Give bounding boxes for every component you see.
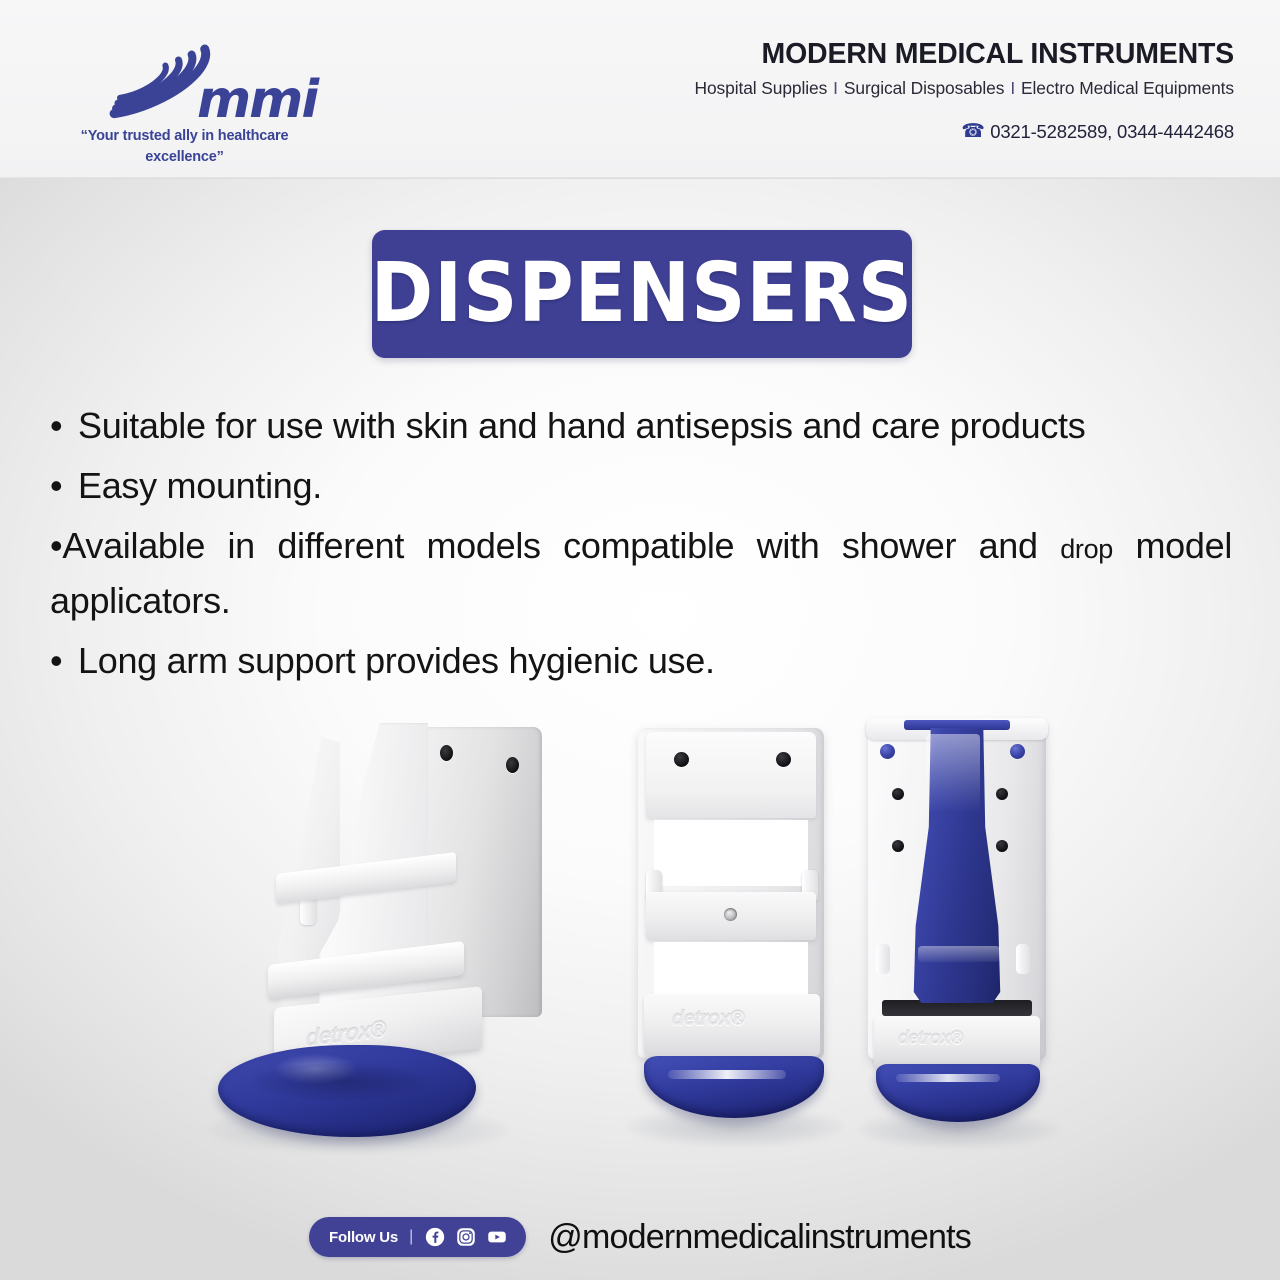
feature-text: Suitable for use with skin and hand anti… bbox=[78, 405, 1085, 446]
screw-icon bbox=[724, 908, 737, 921]
page-title-banner: DISPENSERS bbox=[372, 230, 912, 358]
social-handle: @modernmedicalinstruments bbox=[548, 1218, 971, 1257]
phone-numbers: 0321-5282589, 0344-4442468 bbox=[990, 121, 1234, 143]
header-company-info: MODERN MEDICAL INSTRUMENTS Hospital Supp… bbox=[695, 38, 1235, 143]
bullet-glyph: • bbox=[50, 633, 78, 688]
company-services: Hospital SuppliesISurgical DisposablesIE… bbox=[695, 78, 1235, 99]
tray-highlight bbox=[252, 1063, 432, 1101]
page-title: DISPENSERS bbox=[371, 253, 913, 335]
list-item: •Long arm support provides hygienic use. bbox=[50, 633, 1232, 688]
service-separator-2: I bbox=[1004, 78, 1021, 98]
company-name: MODERN MEDICAL INSTRUMENTS bbox=[695, 38, 1235, 71]
logo-tagline: “Your trusted ally in healthcare excelle… bbox=[42, 126, 327, 167]
service-2: Surgical Disposables bbox=[844, 78, 1004, 98]
follow-us-pill[interactable]: Follow Us | bbox=[309, 1217, 526, 1257]
product-brand-emboss: detrox® bbox=[898, 1028, 963, 1049]
product-brand-emboss: detrox® bbox=[672, 1008, 744, 1031]
bottle-clip bbox=[876, 944, 890, 974]
service-separator-1: I bbox=[827, 78, 844, 98]
tray-highlight bbox=[896, 1074, 1000, 1082]
feature-text: Easy mounting. bbox=[78, 465, 322, 506]
page-header: mmi “Your trusted ally in healthcare exc… bbox=[0, 0, 1280, 178]
tray-highlight bbox=[668, 1070, 786, 1079]
page-footer: Follow Us | bbox=[0, 1194, 1280, 1280]
flyer-page: mmi “Your trusted ally in healthcare exc… bbox=[0, 0, 1280, 1280]
mounting-hole-icon bbox=[996, 840, 1008, 852]
feature-text: Long arm support provides hygienic use. bbox=[78, 640, 715, 681]
mounting-hole-icon bbox=[996, 788, 1008, 800]
list-item: •Suitable for use with skin and hand ant… bbox=[50, 398, 1232, 453]
service-3: Electro Medical Equipments bbox=[1021, 78, 1234, 98]
mounting-hole-icon bbox=[440, 745, 453, 761]
follow-us-label: Follow Us bbox=[329, 1229, 398, 1246]
mounting-hole-icon bbox=[892, 788, 904, 800]
instagram-icon[interactable] bbox=[455, 1226, 477, 1248]
product-image-group: detrox® detrox® bbox=[0, 690, 1280, 1160]
mounting-hole-icon bbox=[892, 840, 904, 852]
logo-wordmark: mmi bbox=[197, 74, 317, 126]
list-item: •Available in different models compatibl… bbox=[50, 518, 1232, 628]
feature-text-tail: drop bbox=[1060, 534, 1113, 564]
brand-logo: mmi “Your trusted ally in healthcare exc… bbox=[42, 30, 342, 165]
service-1: Hospital Supplies bbox=[695, 78, 828, 98]
bullet-glyph: • bbox=[50, 398, 78, 453]
mounting-hole-icon bbox=[776, 752, 791, 767]
bullet-glyph: • bbox=[50, 458, 78, 513]
dispenser-top-plate bbox=[646, 732, 816, 818]
mounting-hole-icon bbox=[506, 757, 519, 773]
facebook-icon[interactable] bbox=[424, 1226, 446, 1248]
bottle-clip bbox=[1016, 944, 1030, 974]
list-item: •Easy mounting. bbox=[50, 458, 1232, 513]
pill-separator: | bbox=[409, 1228, 413, 1246]
product-image-dispenser-front: detrox® bbox=[620, 720, 850, 1135]
dispenser-cutout bbox=[654, 820, 808, 886]
blue-cap-icon bbox=[880, 744, 895, 759]
dispenser-blue-arm-tray bbox=[644, 1056, 824, 1118]
blue-cap-icon bbox=[1010, 744, 1025, 759]
contact-phone: ☎ 0321-5282589, 0344-4442468 bbox=[695, 121, 1235, 143]
dispenser-cutout bbox=[654, 942, 808, 994]
arm-highlight bbox=[926, 734, 980, 812]
product-image-dispenser-angled: detrox® bbox=[218, 715, 598, 1135]
telephone-icon: ☎ bbox=[961, 123, 982, 141]
header-divider bbox=[0, 177, 1280, 179]
bullet-glyph: • bbox=[50, 525, 62, 566]
dispenser-blue-tray bbox=[876, 1064, 1040, 1122]
feature-text: Available in different models compatible… bbox=[62, 525, 1037, 566]
feature-list: •Suitable for use with skin and hand ant… bbox=[50, 398, 1232, 693]
mounting-hole-icon bbox=[674, 752, 689, 767]
product-image-dispenser-long-arm: detrox® bbox=[852, 708, 1067, 1138]
youtube-icon[interactable] bbox=[486, 1226, 508, 1248]
arm-highlight bbox=[918, 946, 1000, 962]
